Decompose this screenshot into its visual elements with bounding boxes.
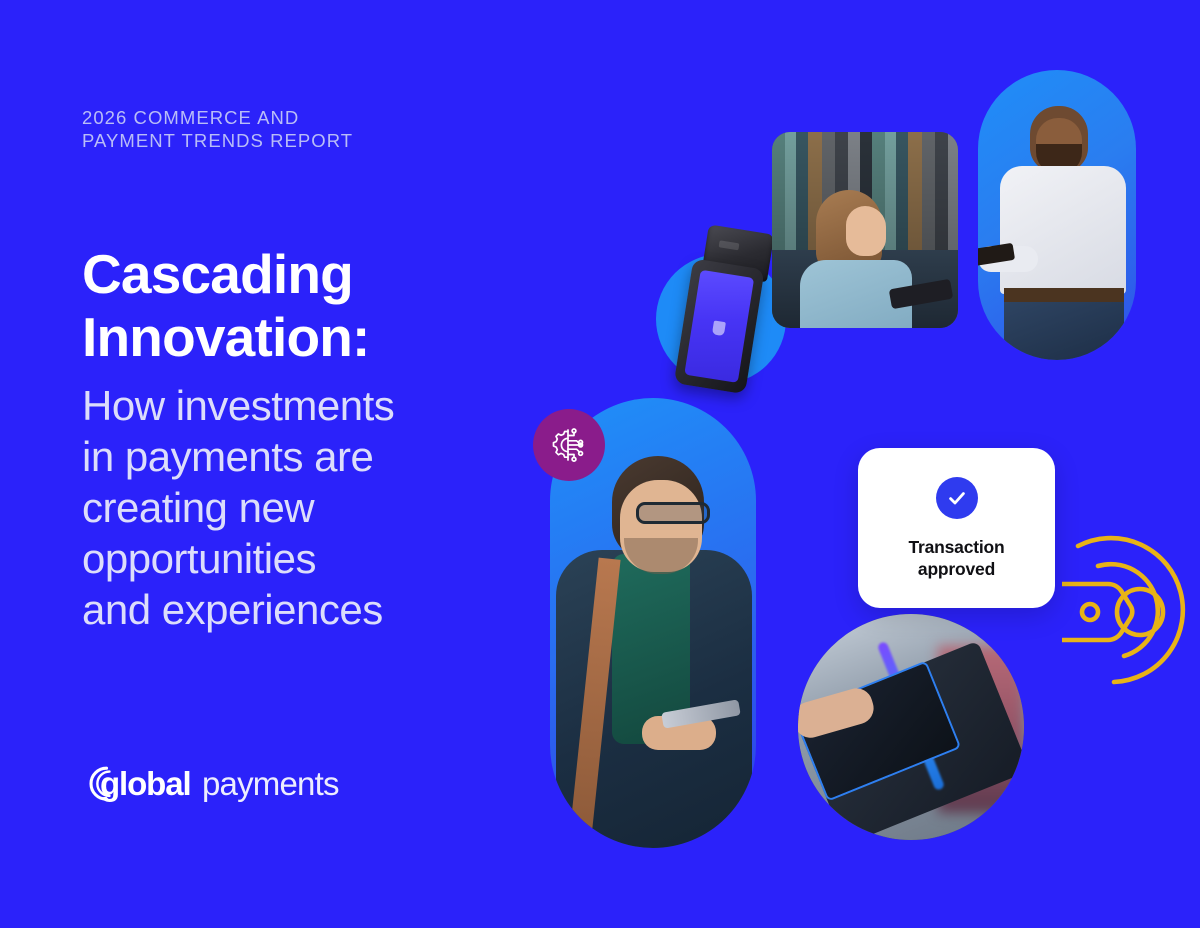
transaction-approved-card: Transaction approved	[858, 448, 1055, 608]
status-badge: Transaction approved	[908, 536, 1004, 580]
report-eyebrow: 2026 Commerce and Payment Trends Report	[82, 106, 482, 152]
clerk-jeans	[1004, 302, 1124, 360]
svg-text:payments: payments	[202, 765, 339, 802]
glasses-icon	[636, 502, 710, 524]
checkmark-icon	[946, 487, 968, 509]
photo-self-service-kiosk	[798, 614, 1024, 840]
graphic-contactless-payment	[1062, 524, 1200, 700]
report-cover: 2026 Commerce and Payment Trends Report …	[0, 0, 1200, 928]
shopper-face	[846, 206, 886, 256]
gear-circuit-icon	[548, 424, 590, 466]
check-circle-icon	[936, 477, 978, 519]
page-title: Cascading Innovation:	[82, 243, 512, 369]
pos-terminal-screen	[684, 270, 754, 383]
pos-terminal-body	[674, 258, 765, 394]
contactless-payment-icon	[1062, 524, 1200, 700]
photo-store-checkout	[772, 132, 958, 328]
clerk-shirt	[1000, 166, 1126, 294]
photo-clerk-with-terminal	[978, 70, 1136, 360]
clerk-belt	[1004, 288, 1124, 303]
cover-image-collage: Transaction approved	[512, 0, 1200, 928]
badge-smart-technology	[533, 409, 605, 481]
global-payments-logo: global payments	[82, 762, 354, 806]
global-payments-logo-mark: global payments	[82, 762, 354, 806]
pos-terminal-icon	[670, 222, 780, 395]
svg-text:global: global	[100, 765, 191, 802]
page-subtitle: How investments in payments are creating…	[82, 380, 482, 635]
